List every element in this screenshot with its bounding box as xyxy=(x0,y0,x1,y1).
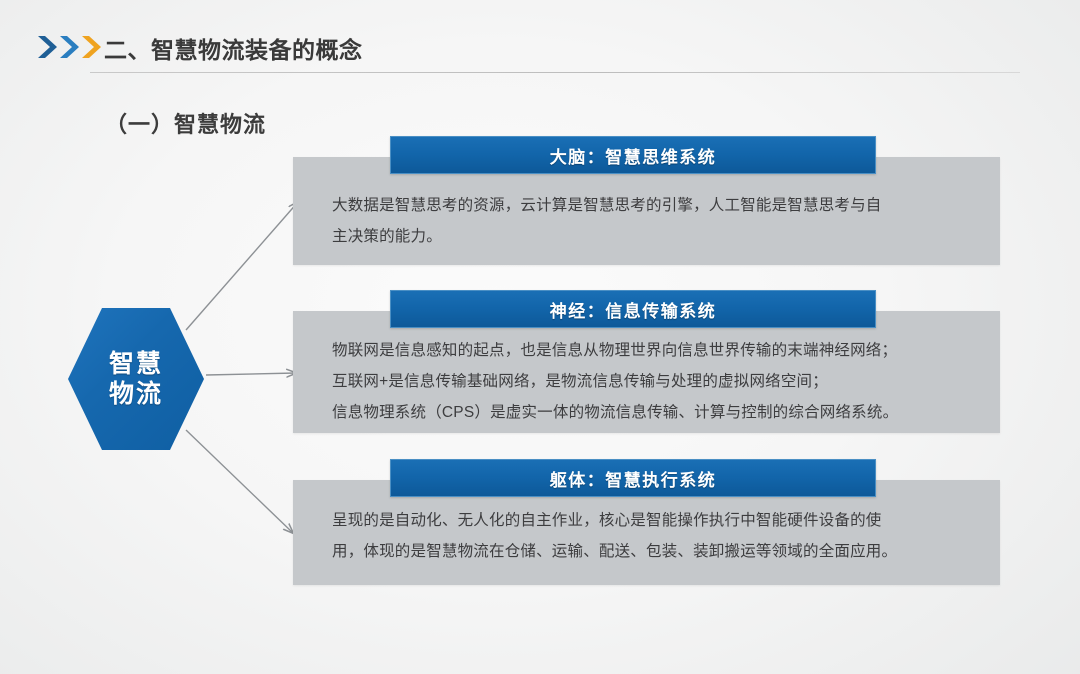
arrow-to-nerve-block xyxy=(206,373,296,375)
block-body-line: 呈现的是自动化、无人化的自主作业，核心是智能操作执行中智能硬件设备的使 xyxy=(332,505,982,536)
block-header-bar[interactable]: 神经：信息传输系统 xyxy=(390,290,876,328)
header-divider xyxy=(90,72,1020,73)
hexagon-label-line2: 物流 xyxy=(109,379,163,410)
block-body-text: 呈现的是自动化、无人化的自主作业，核心是智能操作执行中智能硬件设备的使 用，体现… xyxy=(332,505,982,567)
block-body-line: 主决策的能力。 xyxy=(332,221,972,252)
block-header-label: 躯体：智慧执行系统 xyxy=(550,466,717,491)
block-body-line: 物联网是信息感知的起点，也是信息从物理世界向信息世界传输的末端神经网络； xyxy=(332,335,982,366)
chevron-group-icon xyxy=(36,34,110,60)
chevron-right-icon-orange xyxy=(82,36,101,58)
page-title: 二、智慧物流装备的概念 xyxy=(104,31,363,65)
chevron-right-icon-blue xyxy=(60,36,79,58)
block-header-label: 神经：信息传输系统 xyxy=(550,297,717,322)
block-body-line: 大数据是智慧思考的资源，云计算是智慧思考的引擎，人工智能是智慧思考与自 xyxy=(332,190,972,221)
hexagon-label-line1: 智慧 xyxy=(109,349,163,380)
block-header-label: 大脑：智慧思维系统 xyxy=(550,143,717,168)
slide-header: 二、智慧物流装备的概念 xyxy=(0,0,1080,80)
block-header-bar[interactable]: 大脑：智慧思维系统 xyxy=(390,136,876,174)
block-header-bar[interactable]: 躯体：智慧执行系统 xyxy=(390,459,876,497)
hexagon-shape: 智慧 物流 xyxy=(68,308,204,450)
block-body-line: 用，体现的是智慧物流在仓储、运输、配送、包装、装卸搬运等领域的全面应用。 xyxy=(332,536,982,567)
chevron-right-icon-dark-blue xyxy=(38,36,57,58)
hexagon-node-smart-logistics[interactable]: 智慧 物流 xyxy=(68,308,204,450)
block-body-text: 物联网是信息感知的起点，也是信息从物理世界向信息世界传输的末端神经网络； 互联网… xyxy=(332,335,982,428)
block-body-line: 信息物理系统（CPS）是虚实一体的物流信息传输、计算与控制的综合网络系统。 xyxy=(332,397,982,428)
block-body-line: 互联网+是信息传输基础网络，是物流信息传输与处理的虚拟网络空间； xyxy=(332,366,982,397)
section-subtitle: （一）智慧物流 xyxy=(105,107,266,139)
block-body-text: 大数据是智慧思考的资源，云计算是智慧思考的引擎，人工智能是智慧思考与自 主决策的… xyxy=(332,190,972,252)
